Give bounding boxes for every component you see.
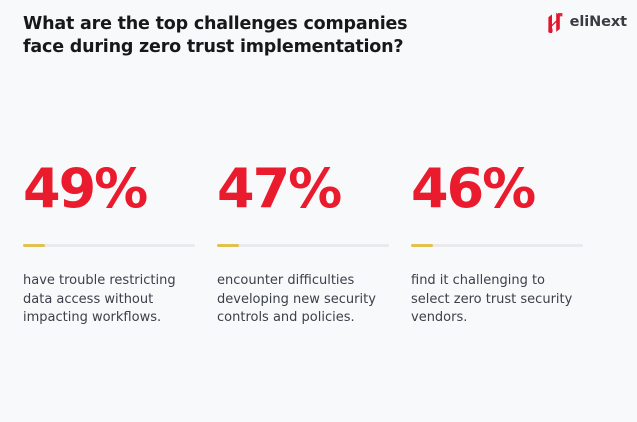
stat-description: find it challenging to select zero trust… [411, 272, 583, 328]
brand-logo: eliNext [547, 10, 627, 34]
stat-column-1: 49% have trouble restricting data access… [23, 160, 195, 328]
page-title: What are the top challenges companies fa… [23, 13, 423, 59]
stat-description: have trouble restricting data access wit… [23, 272, 195, 328]
stat-divider [23, 244, 195, 247]
divider-accent [411, 244, 433, 247]
stat-value: 49% [23, 160, 195, 218]
divider-accent [23, 244, 45, 247]
stat-value: 46% [411, 160, 583, 218]
stat-column-2: 47% encounter difficulties developing ne… [217, 160, 389, 328]
brand-wordmark: eliNext [570, 14, 627, 30]
stats-row: 49% have trouble restricting data access… [23, 160, 614, 328]
stat-value: 47% [217, 160, 389, 218]
stat-description: encounter difficulties developing new se… [217, 272, 389, 328]
stat-divider [217, 244, 389, 247]
divider-accent [217, 244, 239, 247]
stat-divider [411, 244, 583, 247]
infographic-canvas: What are the top challenges companies fa… [0, 0, 637, 422]
stat-column-3: 46% find it challenging to select zero t… [411, 160, 583, 328]
elinext-n-mark-icon [547, 12, 564, 33]
header: What are the top challenges companies fa… [0, 0, 637, 70]
